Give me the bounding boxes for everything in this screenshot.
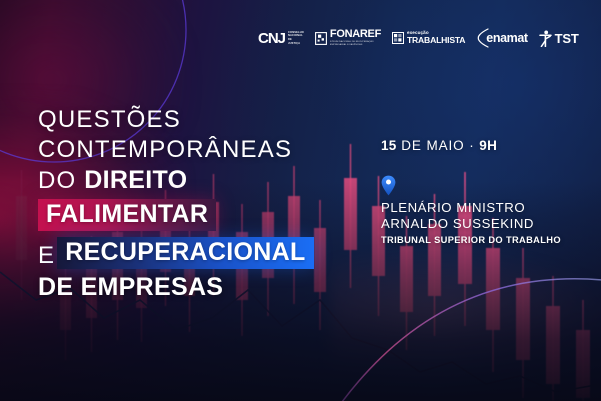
execucao-trabalhista-logo: execução TRABALHISTA (392, 31, 465, 45)
map-pin-icon (381, 175, 396, 196)
venue-institution: TRIBUNAL SUPERIOR DO TRABALHO (381, 235, 587, 245)
tst-logo-icon (539, 30, 552, 47)
enamat-logo: enamat (476, 28, 527, 48)
enamat-logo-mark: enamat (486, 32, 527, 45)
headline-highlight-recuperacional: RECUPERACIONAL (57, 237, 313, 269)
headline-line-5: ERECUPERACIONAL (38, 237, 368, 269)
event-banner: CNJ CONSELHO NACIONAL DE JUSTIÇA FONAREF… (0, 0, 601, 401)
cnj-logo-mark: CNJ (258, 31, 285, 46)
trabalhista-label: TRABALHISTA (407, 36, 465, 45)
headline-line-6: DE EMPRESAS (38, 275, 368, 300)
headline-conjunction: E (38, 244, 55, 268)
event-venue-block: PLENÁRIO MINISTRO ARNALDO SUSSEKIND TRIB… (381, 200, 587, 245)
event-time: 9H (479, 138, 497, 153)
tst-logo-mark: TST (555, 32, 579, 45)
headline-line-4: FALIMENTAR (38, 199, 368, 231)
headline-line-3-light: DO (38, 167, 84, 194)
fonaref-logo-mark: FONAREF (330, 29, 381, 40)
headline-line-1: QUESTÕES (38, 108, 368, 132)
cnj-logo-subtitle: CONSELHO NACIONAL DE JUSTIÇA (288, 31, 304, 46)
fonaref-logo-subtitle: FÓRUM NACIONAL DE RECUPERAÇÃO EMPRESARIA… (330, 41, 381, 48)
venue-line-1: PLENÁRIO MINISTRO (381, 200, 587, 216)
event-date-block: 15 DE MAIO · 9H (381, 138, 581, 153)
cnj-logo: CNJ CONSELHO NACIONAL DE JUSTIÇA (258, 31, 304, 46)
event-date: 15 DE MAIO · 9H (381, 138, 581, 153)
headline: QUESTÕES CONTEMPORÂNEAS DO DIREITO FALIM… (38, 108, 368, 306)
execucao-trabalhista-logo-icon (392, 32, 404, 44)
headline-highlight-falimentar: FALIMENTAR (38, 199, 216, 231)
event-date-day: 15 (381, 138, 397, 153)
partner-logo-bar: CNJ CONSELHO NACIONAL DE JUSTIÇA FONAREF… (258, 24, 578, 52)
fonaref-logo-icon (315, 32, 327, 45)
headline-line-2: CONTEMPORÂNEAS (38, 138, 368, 162)
tst-logo: TST (539, 30, 579, 47)
fonaref-logo: FONAREF FÓRUM NACIONAL DE RECUPERAÇÃO EM… (315, 29, 381, 48)
venue-line-2: ARNALDO SUSSEKIND (381, 216, 587, 232)
headline-line-3: DO DIREITO (38, 168, 368, 193)
headline-line-3-bold: DIREITO (84, 166, 187, 194)
event-date-month: DE MAIO · (397, 138, 480, 153)
